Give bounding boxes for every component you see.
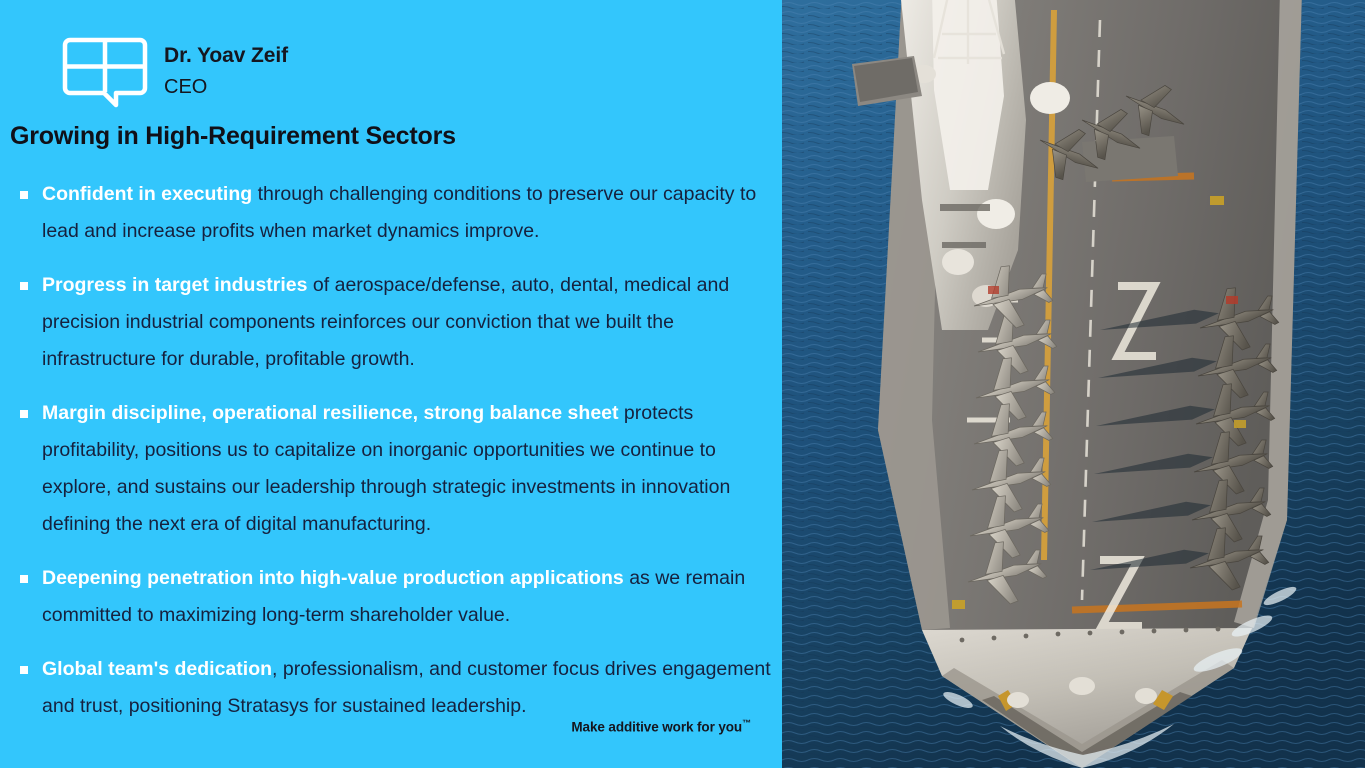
content-panel: Dr. Yoav Zeif CEO Growing in High-Requir… <box>0 0 782 768</box>
slide-headline: Growing in High-Requirement Sectors <box>10 122 456 151</box>
bullet-lead: Margin discipline, operational resilienc… <box>42 402 619 424</box>
square-bullet-icon <box>20 282 28 290</box>
bullet-lead: Progress in target industries <box>42 274 308 296</box>
bullet-lead: Confident in executing <box>42 183 252 205</box>
list-item: Progress in target industries of aerospa… <box>10 267 778 378</box>
list-item: Global team's dedication, professionalis… <box>10 651 778 725</box>
list-item: Margin discipline, operational resilienc… <box>10 395 778 543</box>
tagline-text: Make additive work for you <box>571 720 742 735</box>
square-bullet-icon <box>20 666 28 674</box>
trademark-symbol: ™ <box>742 718 751 728</box>
speaker-header: Dr. Yoav Zeif CEO <box>62 36 288 108</box>
speaker-name: Dr. Yoav Zeif <box>164 44 288 67</box>
bullet-list: Confident in executing through challengi… <box>10 176 778 725</box>
square-bullet-icon <box>20 575 28 583</box>
stratasys-speech-bubble-logo-icon <box>62 36 148 108</box>
presentation-slide: Dr. Yoav Zeif CEO Growing in High-Requir… <box>0 0 1365 768</box>
list-item: Confident in executing through challengi… <box>10 176 778 250</box>
speaker-identity: Dr. Yoav Zeif CEO <box>164 36 288 102</box>
speaker-role: CEO <box>164 72 288 102</box>
list-item: Deepening penetration into high-value pr… <box>10 560 778 634</box>
bullet-lead: Global team's dedication <box>42 658 272 680</box>
aerial-aircraft-carrier-photo <box>782 0 1365 768</box>
brand-tagline: Make additive work for you™ <box>0 718 751 735</box>
bullet-lead: Deepening penetration into high-value pr… <box>42 567 624 589</box>
square-bullet-icon <box>20 191 28 199</box>
square-bullet-icon <box>20 410 28 418</box>
